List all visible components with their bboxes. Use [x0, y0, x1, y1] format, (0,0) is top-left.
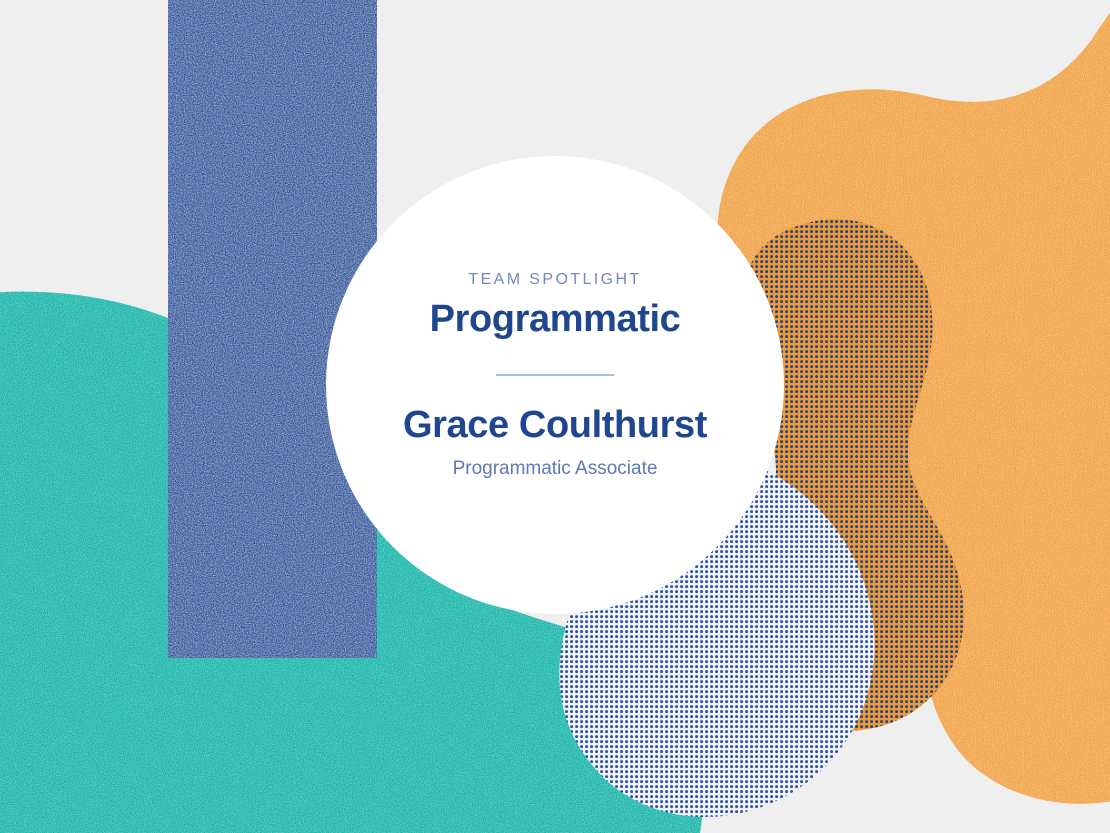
person-role: Programmatic Associate	[453, 458, 658, 481]
team-spotlight-poster: TEAM SPOTLIGHT Programmatic Grace Coulth…	[0, 0, 1110, 833]
person-name: Grace Coulthurst	[403, 406, 707, 446]
page-title: Programmatic	[430, 300, 681, 340]
divider-icon	[496, 374, 614, 376]
spotlight-card: TEAM SPOTLIGHT Programmatic Grace Coulth…	[326, 156, 784, 614]
eyebrow-label: TEAM SPOTLIGHT	[468, 272, 641, 288]
